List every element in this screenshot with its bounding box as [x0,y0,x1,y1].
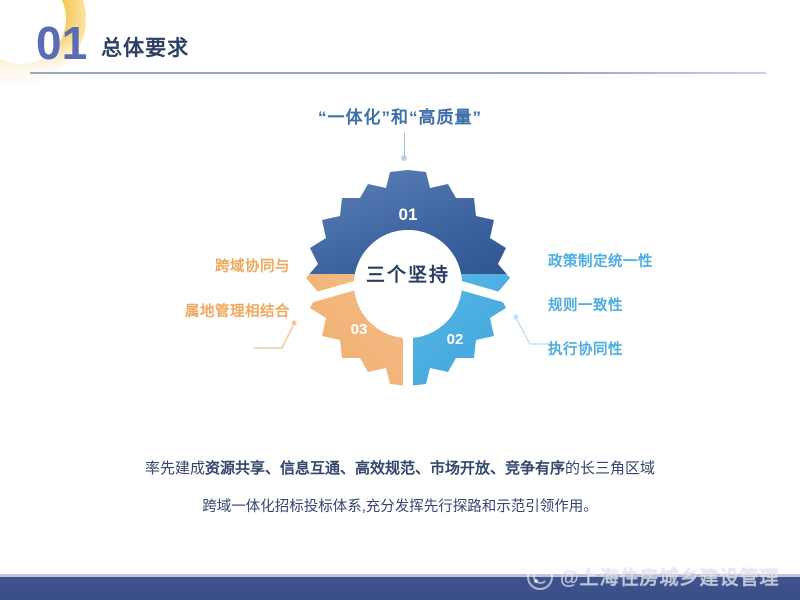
slide-header: 01 总体要求 [36,22,189,64]
bottom-line-1-emphasis: 资源共享、信息互通、高效规范、市场开放、竞争有序 [205,460,565,477]
caption-connector-dot [401,155,407,161]
bottom-paragraph: 率先建成资源共享、信息互通、高效规范、市场开放、竞争有序的长三角区域 跨域一体化… [0,450,800,526]
label-left-2: 属地管理相结合 [100,300,290,321]
bottom-line-1-suffix: 的长三角区域 [565,460,655,477]
labels-left-group: 跨域协同与 属地管理相结合 [100,255,290,345]
top-caption: “一体化”和“高质量” [0,103,800,128]
gear-label-02: 02 [447,331,464,348]
slide-canvas: 01 总体要求 “一体化”和“高质量” [0,0,800,600]
section-number: 01 [36,22,87,64]
gear-label-03: 03 [351,321,368,338]
labels-right-group: 政策制定统一性 规则一致性 执行协同性 [548,250,768,382]
page-title: 总体要求 [101,36,189,62]
gear-label-01: 01 [399,205,418,224]
label-right-1: 政策制定统一性 [548,250,768,271]
bottom-band [0,577,800,600]
gear-center-text: 三个坚持 [296,260,520,287]
gear-diagram: 01 02 03 三个坚持 [296,162,520,398]
header-divider [30,72,766,74]
bottom-line-2: 跨域一体化招标投标体系,充分发挥先行探路和示范引领作用。 [0,488,800,526]
label-left-1: 跨域协同与 [100,255,290,276]
label-right-3: 执行协同性 [548,338,768,359]
bottom-line-1: 率先建成资源共享、信息互通、高效规范、市场开放、竞争有序的长三角区域 [0,450,800,488]
bottom-line-1-prefix: 率先建成 [145,460,205,477]
label-right-2: 规则一致性 [548,294,768,315]
